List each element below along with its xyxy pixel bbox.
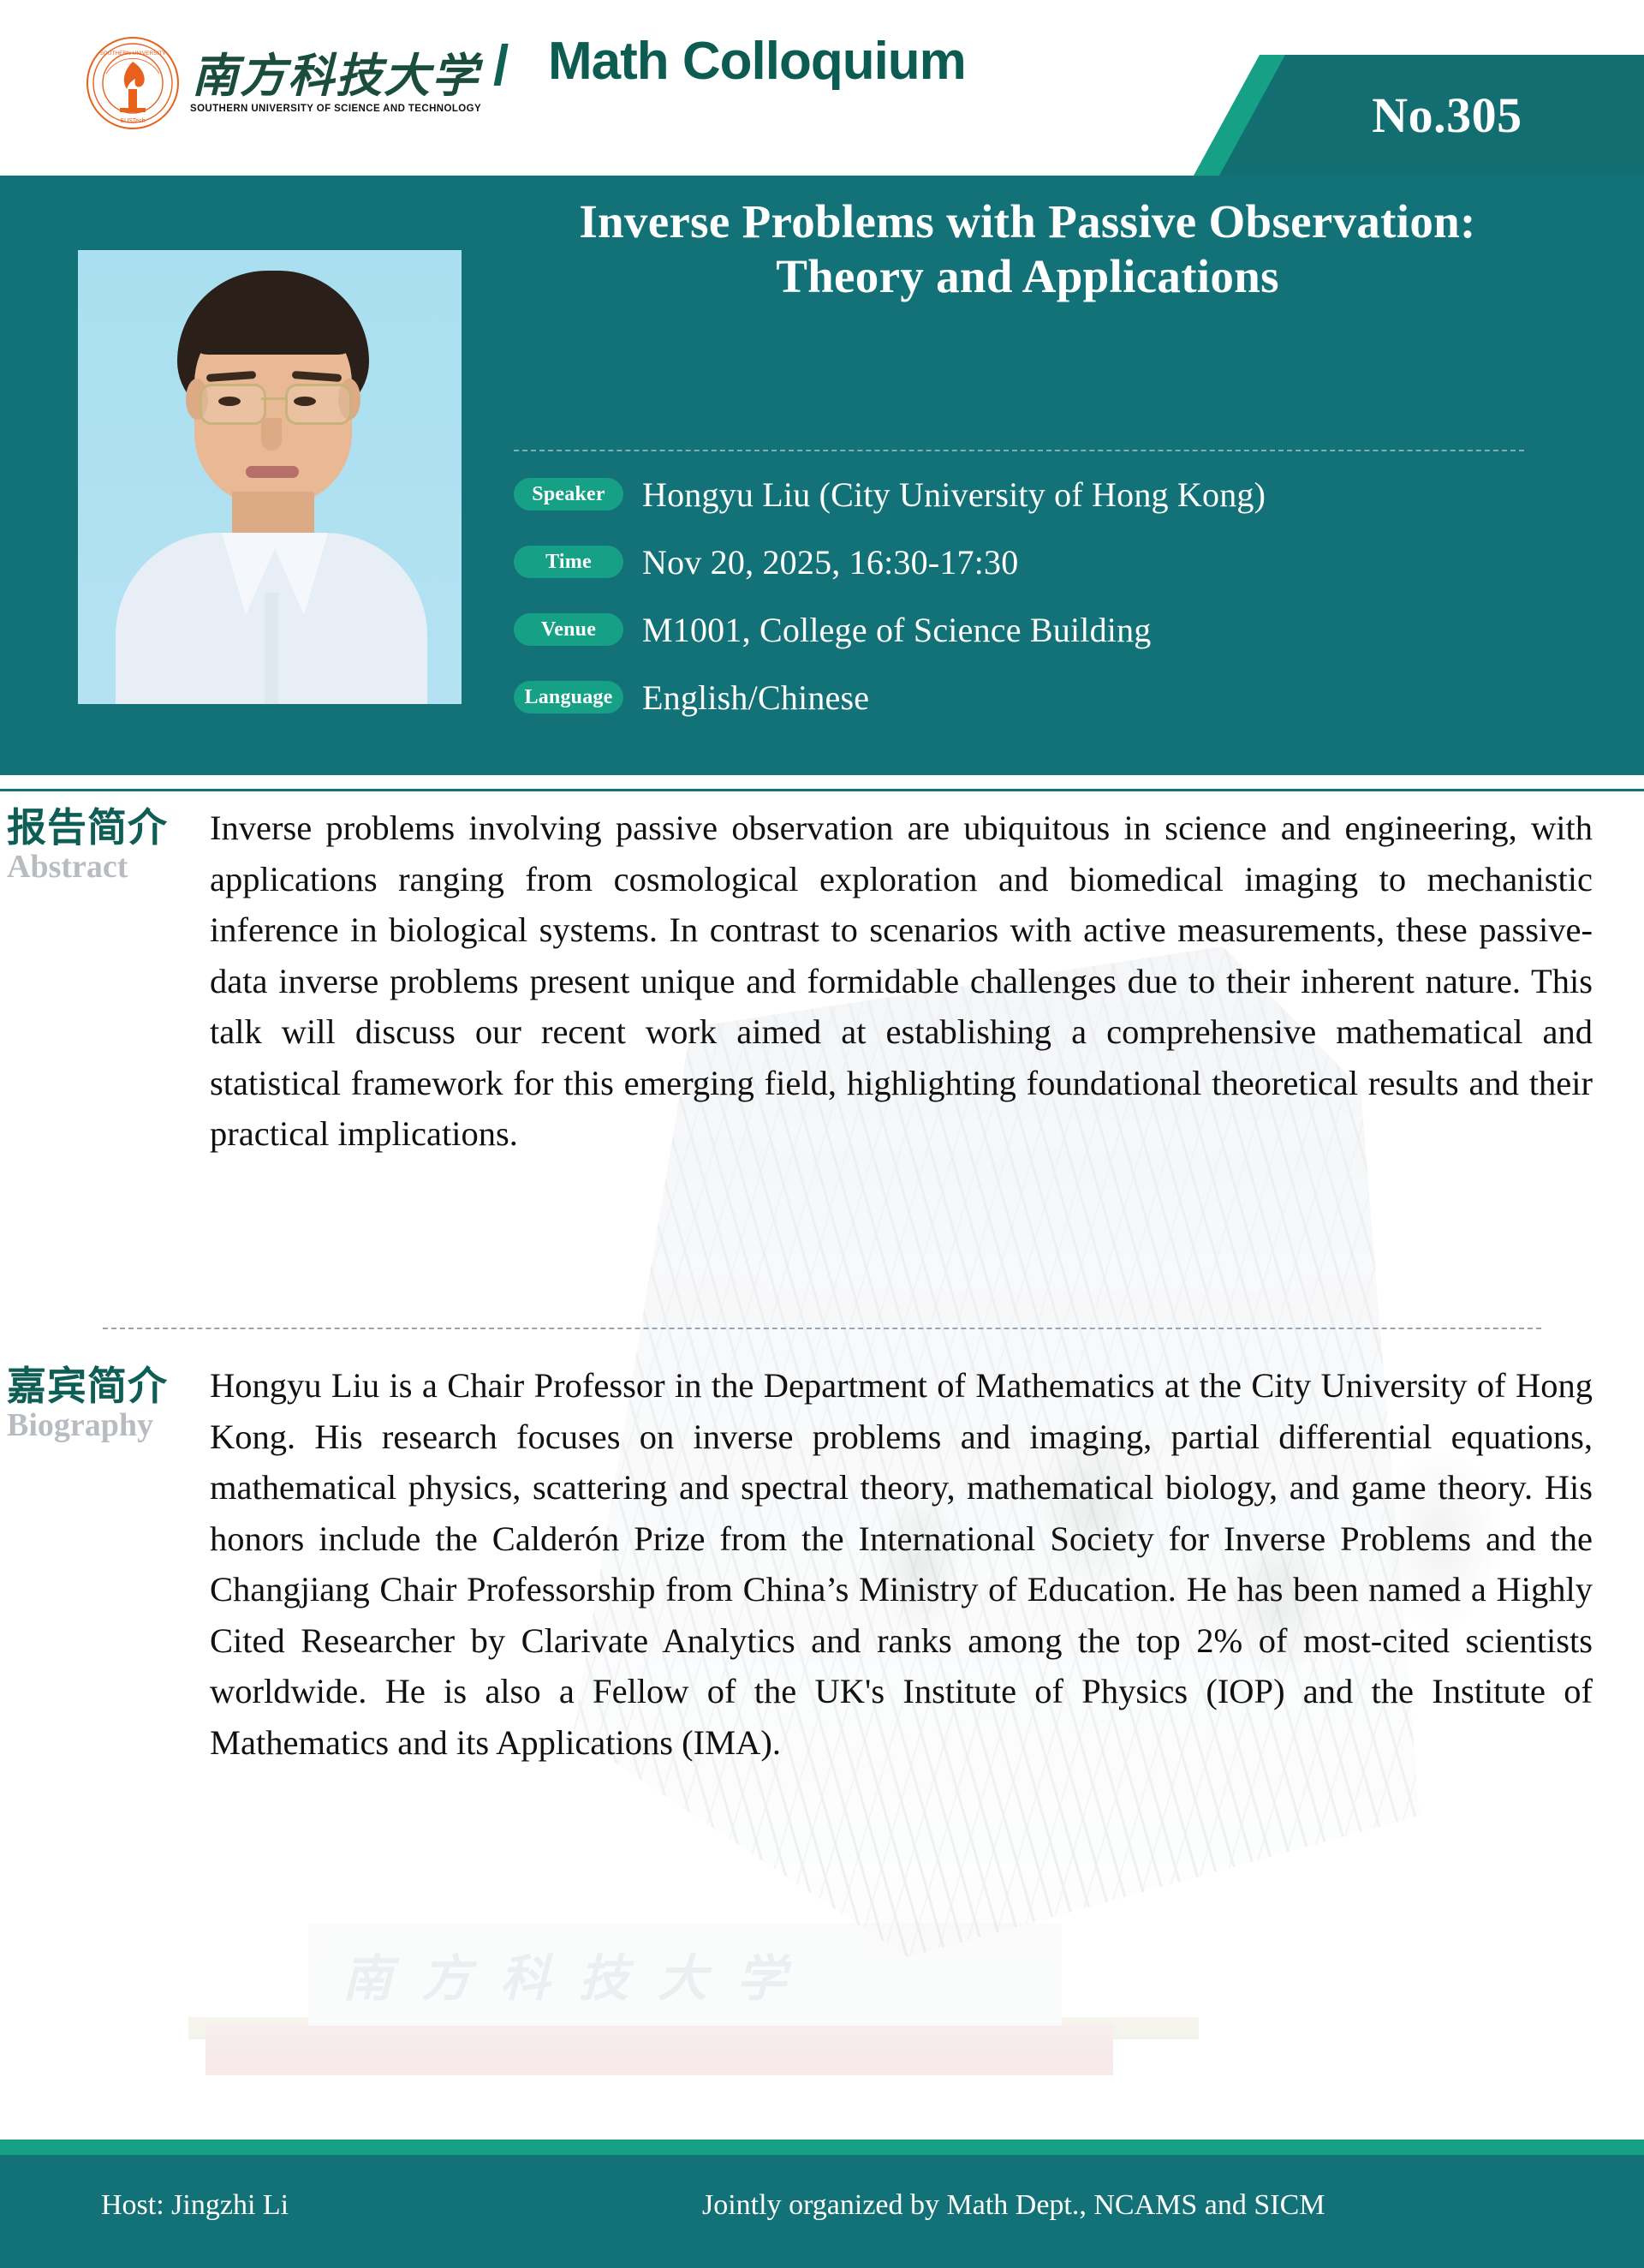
biography-heading: 嘉宾简介 Biography — [7, 1366, 204, 1443]
meta-row-language: Language English/Chinese — [514, 677, 1584, 718]
avatar — [78, 250, 462, 704]
meta-row-venue: Venue M1001, College of Science Building — [514, 609, 1584, 650]
content-area: 南方科技大学 报告简介 Abstract Inverse problems in… — [0, 775, 1644, 2140]
header-separator: / — [493, 33, 509, 98]
meta-row-time: Time Nov 20, 2025, 16:30-17:30 — [514, 541, 1584, 582]
talk-title: Inverse Problems with Passive Observatio… — [514, 194, 1541, 305]
status-badge-speaker: Speaker — [514, 478, 623, 510]
gate-flowerbed — [205, 2024, 1113, 2075]
university-name-chinese: 南方科技大学 — [192, 52, 479, 101]
footer-host: Host: Jingzhi Li — [101, 2189, 289, 2222]
svg-text:SOUTHERN UNIVERSITY: SOUTHERN UNIVERSITY — [99, 51, 166, 57]
university-wordmark: 南方科技大学 SOUTHERN UNIVERSITY OF SCIENCE AN… — [190, 52, 481, 114]
issue-number-label: No.305 — [1190, 55, 1644, 176]
biography-text: Hongyu Liu is a Chair Professor in the D… — [210, 1360, 1593, 1768]
meta-value-time: Nov 20, 2025, 16:30-17:30 — [642, 542, 1018, 582]
portrait-glasses-right — [285, 384, 352, 425]
footer-organizers: Jointly organized by Math Dept., NCAMS a… — [702, 2189, 1325, 2222]
university-logo: SOUTHERN UNIVERSITY SUSTech 南方科技大学 SOUTH… — [86, 36, 481, 130]
abstract-text: Inverse problems involving passive obser… — [210, 803, 1593, 1160]
biography-heading-chinese: 嘉宾简介 — [7, 1366, 204, 1406]
speaker-photo-frame — [73, 243, 467, 710]
meta-value-language: English/Chinese — [642, 677, 869, 718]
abstract-heading-english: Abstract — [7, 850, 204, 885]
portrait-eye-left — [218, 397, 241, 406]
university-name-english: SOUTHERN UNIVERSITY OF SCIENCE AND TECHN… — [190, 104, 481, 114]
suste-torch-seal-icon: SOUTHERN UNIVERSITY SUSTech — [86, 36, 180, 130]
abstract-heading: 报告简介 Abstract — [7, 808, 204, 885]
gate-university-name: 南方科技大学 — [342, 1938, 1027, 2010]
biography-top-rule — [103, 1328, 1541, 1329]
page-title: Math Colloquium — [548, 31, 966, 92]
campus-gate-watermark: 南方科技大学 — [154, 1889, 1353, 2137]
status-badge-language: Language — [514, 681, 623, 713]
portrait-glasses-bridge — [261, 397, 285, 400]
talk-meta-list: Speaker Hongyu Liu (City University of H… — [514, 474, 1584, 744]
biography-heading-english: Biography — [7, 1409, 204, 1443]
footer-accent-strip — [0, 2140, 1644, 2155]
portrait-mouth — [246, 466, 299, 478]
meta-value-speaker: Hongyu Liu (City University of Hong Kong… — [642, 474, 1266, 515]
page-header: SOUTHERN UNIVERSITY SUSTech 南方科技大学 SOUTH… — [0, 0, 1644, 176]
portrait-nose — [261, 418, 282, 451]
svg-text:SUSTech: SUSTech — [120, 118, 145, 124]
page-footer: Host: Jingzhi Li Jointly organized by Ma… — [0, 2155, 1644, 2268]
portrait-shirt-placket — [265, 593, 278, 704]
portrait-fringe — [189, 291, 357, 355]
status-badge-venue: Venue — [514, 613, 623, 646]
abstract-top-rule — [0, 789, 1644, 791]
hero-section: Inverse Problems with Passive Observatio… — [0, 176, 1644, 775]
meta-value-venue: M1001, College of Science Building — [642, 610, 1152, 650]
abstract-heading-chinese: 报告简介 — [7, 808, 204, 847]
issue-number-banner: No.305 — [1190, 55, 1644, 176]
status-badge-time: Time — [514, 546, 623, 578]
hero-divider — [514, 450, 1524, 451]
portrait-eye-right — [294, 397, 316, 406]
meta-row-speaker: Speaker Hongyu Liu (City University of H… — [514, 474, 1584, 515]
